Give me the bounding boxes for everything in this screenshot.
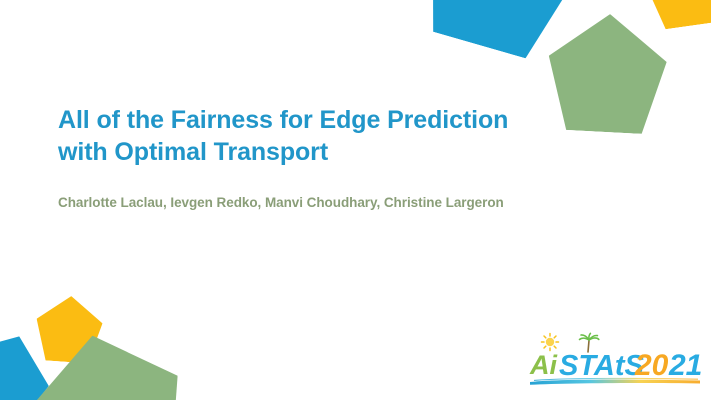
- page-title-line-2: with Optimal Transport: [58, 138, 328, 166]
- page-title-line-1: All of the Fairness for Edge Prediction: [58, 106, 508, 134]
- presentation-title-slide: All of the Fairness for Edge Prediction …: [0, 0, 711, 400]
- page-title: All of the Fairness for Edge Prediction …: [58, 104, 578, 168]
- logo-text-stats: STAtS: [559, 350, 645, 382]
- logo-text-year-21: 21: [668, 349, 702, 382]
- logo-text-ai: Ai: [529, 350, 557, 380]
- yellow-pentagon-top-right: [640, 0, 711, 31]
- logo-text-year-20: 20: [634, 349, 669, 382]
- sun-icon: [542, 334, 559, 351]
- aistats-logo: Ai STAtS 20 21: [528, 332, 704, 386]
- author-list: Charlotte Laclau, Ievgen Redko, Manvi Ch…: [58, 195, 658, 210]
